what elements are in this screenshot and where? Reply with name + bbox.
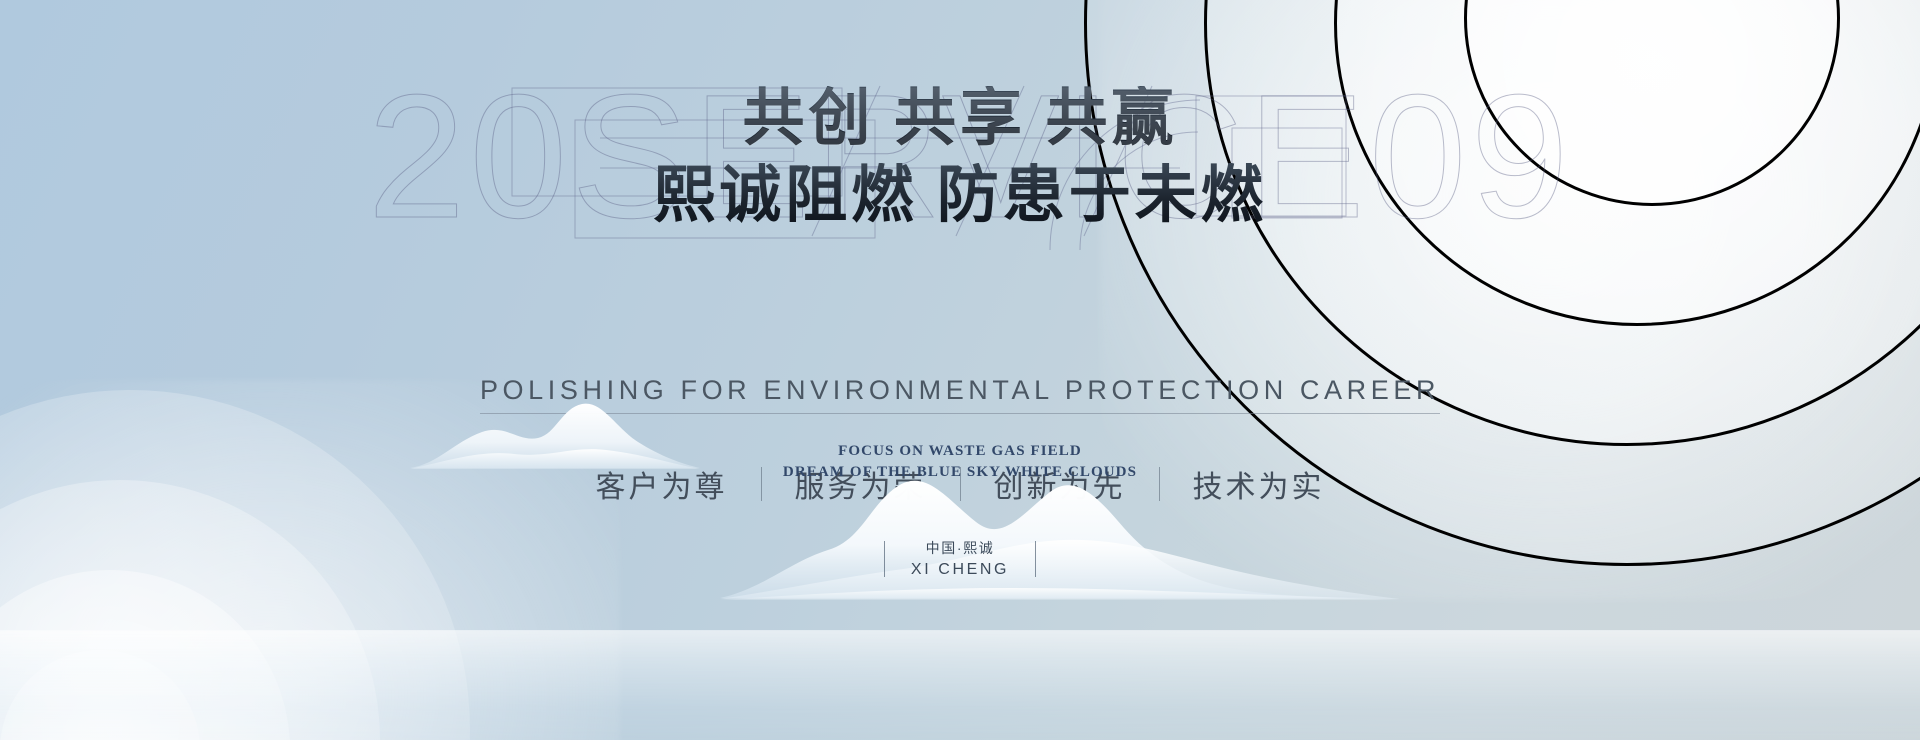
headline: 共创 共享 共赢 熙诚阻燃 防患于未燃 [0, 86, 1920, 230]
signature-english: XI CHENG [911, 561, 1009, 579]
horizon-plane [0, 630, 1920, 740]
sub-caption-line-1: FOCUS ON WASTE GAS FIELD [0, 443, 1920, 460]
sub-caption: FOCUS ON WASTE GAS FIELD DREAM OF THE BL… [0, 443, 1920, 481]
tagline: POLISHING FOR ENVIRONMENTAL PROTECTION C… [0, 375, 1920, 414]
signature-text-block: 中国·熙诚 XI CHENG [911, 538, 1009, 579]
signature-bar-left [884, 541, 885, 577]
headline-line-1: 共创 共享 共赢 [0, 86, 1920, 153]
promotional-banner: 20SERVICE09 共创 共享 共赢 熙诚阻燃 防患于未燃 POLISHIN… [0, 0, 1920, 740]
signature-bar-right [1035, 541, 1036, 577]
headline-line-2: 熙诚阻燃 防患于未燃 [0, 163, 1920, 230]
signature-chinese: 中国·熙诚 [911, 538, 1009, 558]
brand-signature: 中国·熙诚 XI CHENG [0, 538, 1920, 579]
sub-caption-line-2: DREAM OF THE BLUE SKY WHITE CLOUDS [0, 464, 1920, 481]
